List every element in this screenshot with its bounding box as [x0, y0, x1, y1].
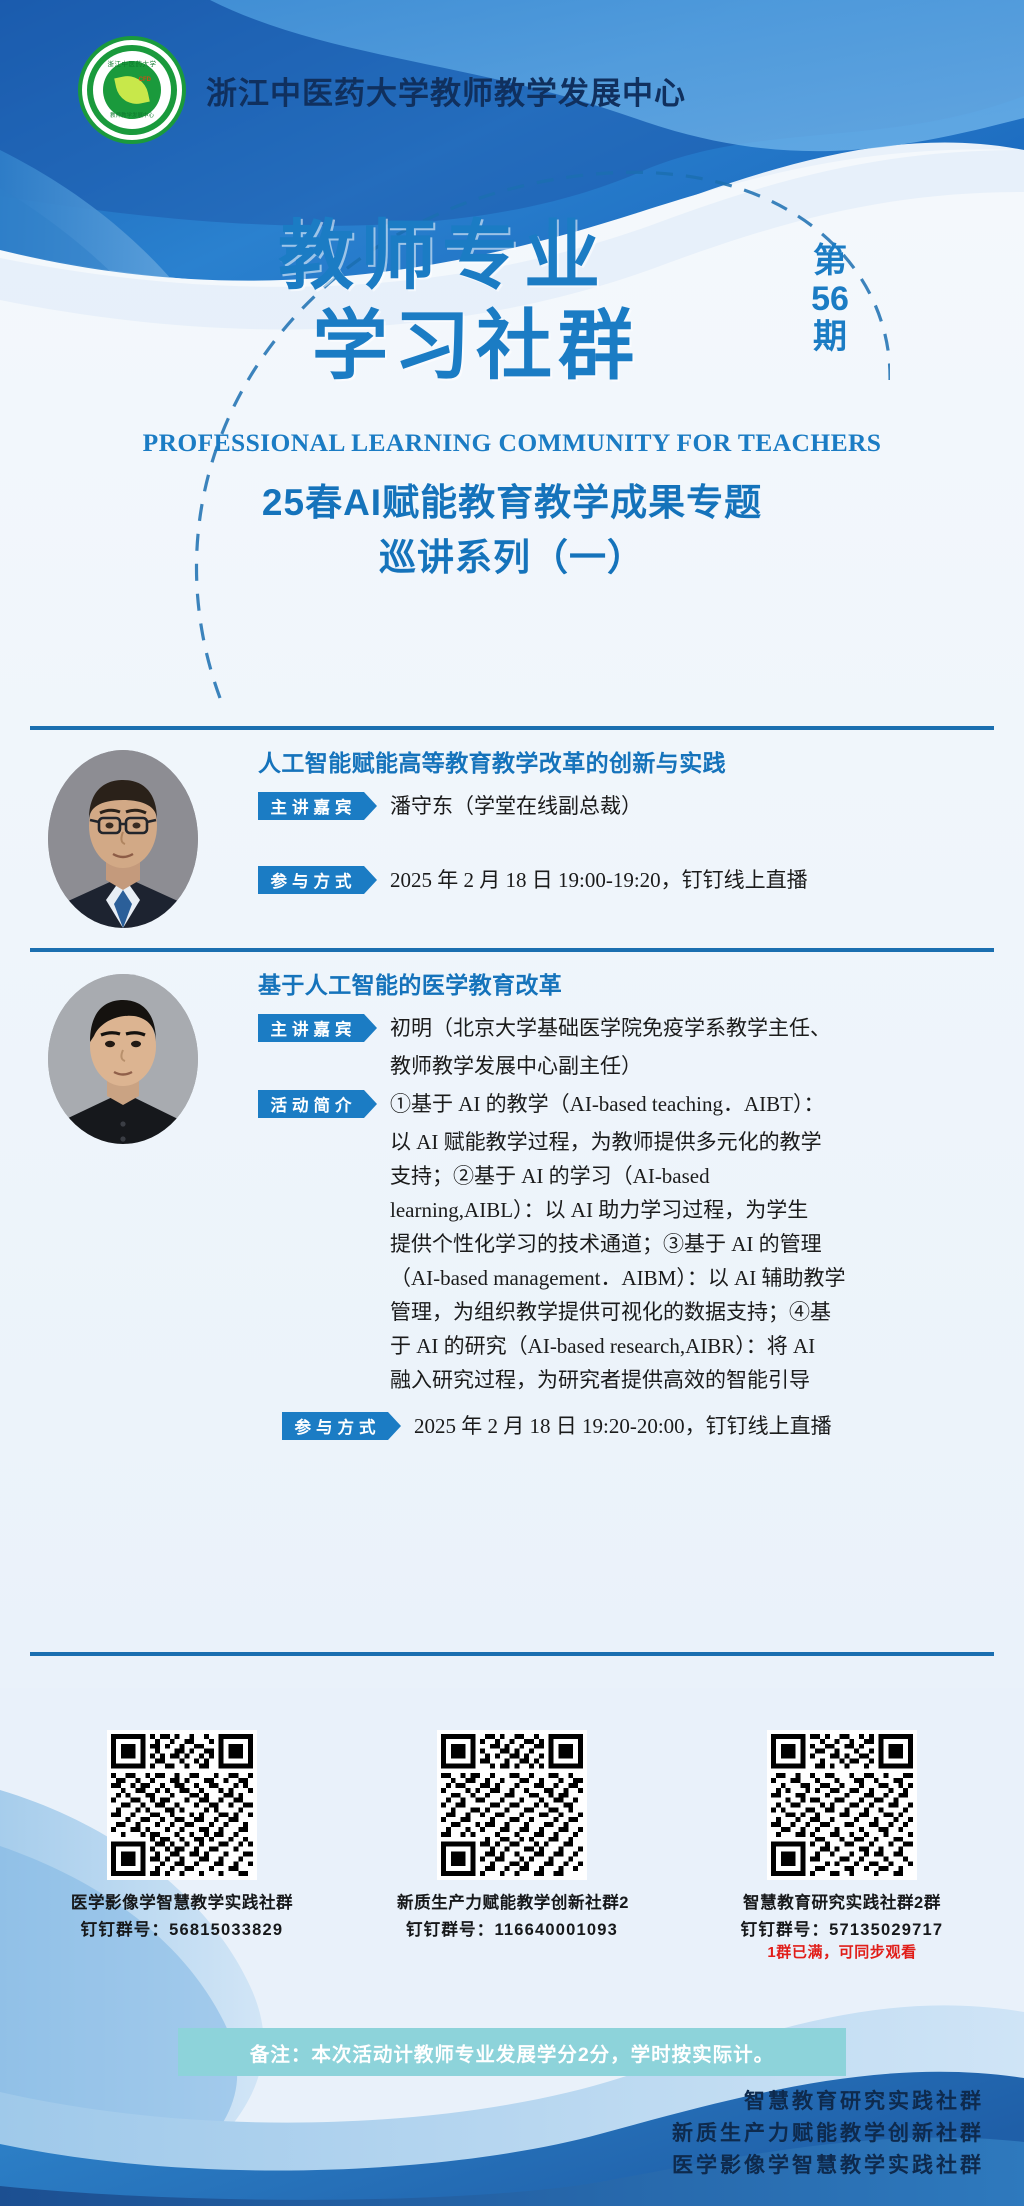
footer-group-2: 医学影像学智慧教学实践社群 [424, 2150, 984, 2182]
session-2-intro-line-6: 管理，为组织教学提供可视化的数据支持；④基 [390, 1295, 998, 1329]
qr-label-2: 新质生产力赋能教学创新社群2 [397, 1892, 627, 1916]
qr-number-label-2: 钉钉群号： [406, 1921, 495, 1939]
session-1-join-text: 2025 年 2 月 18 日 19:00-19:20，钉钉线上直播 [390, 863, 808, 897]
qr-number-2: 钉钉群号：116640001093 [397, 1916, 627, 1940]
issue-suffix: 期 [800, 318, 860, 356]
session-1-speaker-row: 主讲嘉宾 潘守东（学堂在线副总裁） [258, 789, 978, 823]
activity-intro-tag: 活动简介 [258, 1090, 364, 1118]
speaker-tag: 主讲嘉宾 [258, 792, 364, 820]
qr-code-image-1[interactable] [107, 1730, 257, 1880]
session-2-join-text: 2025 年 2 月 18 日 19:20-20:00，钉钉线上直播 [414, 1409, 832, 1443]
join-method-tag: 参与方式 [282, 1412, 388, 1440]
session-1-body: 人工智能赋能高等教育教学改革的创新与实践 主讲嘉宾 潘守东（学堂在线副总裁） 参… [258, 744, 978, 901]
logo-bottom-text: 教师教学发展中心 [93, 113, 171, 120]
session-2-body: 基于人工智能的医学教育改革 主讲嘉宾 初明（北京大学基础医学院免疫学系教学主任、… [258, 966, 998, 1447]
session-2-intro-line-8: 融入研究过程，为研究者提供高效的智能引导 [390, 1363, 998, 1397]
hero-title: 教师专业 学习社群 [278, 212, 778, 391]
session-2-join-row: 参与方式 2025 年 2 月 18 日 19:20-20:00，钉钉线上直播 [282, 1409, 998, 1443]
speaker-tag: 主讲嘉宾 [258, 1014, 364, 1042]
footer-group-1: 新质生产力赋能教学创新社群 [424, 2118, 984, 2150]
issue-badge: 第 56 期 [800, 242, 860, 356]
session-2-intro-line-3: learning,AIBL）：以 AI 助力学习过程，为学生 [390, 1193, 998, 1227]
qr-number-label-3: 钉钉群号： [741, 1921, 830, 1939]
qr-number-1: 钉钉群号：56815033829 [67, 1916, 297, 1940]
hero-english-subtitle: PROFESSIONAL LEARNING COMMUNITY FOR TEAC… [0, 428, 1024, 458]
footer-group-list: 智慧教育研究实践社群 新质生产力赋能教学创新社群 医学影像学智慧教学实践社群 [424, 2086, 984, 2182]
poster-root: 浙江中医药大学 CFD 教师教学发展中心 浙江中医药大学教师教学发展中心 教师专… [0, 0, 1024, 2206]
qr-cell-1[interactable]: 医学影像学智慧教学实践社群 钉钉群号：56815033829 [67, 1730, 297, 1962]
session-2-intro-row: 活动简介 ①基于 AI 的教学（AI-based teaching．AIBT）： [258, 1087, 998, 1121]
qr-number-3: 钉钉群号：57135029717 [727, 1916, 957, 1940]
session-2-intro-line-4: 提供个性化学习的技术通道；③基于 AI 的管理 [390, 1227, 998, 1261]
hero-series-line2: 巡讲系列（一） [0, 531, 1024, 586]
session-1-title: 人工智能赋能高等教育教学改革的创新与实践 [258, 744, 978, 778]
footer-group-0: 智慧教育研究实践社群 [424, 2086, 984, 2118]
qr-label-1: 医学影像学智慧教学实践社群 [67, 1892, 297, 1916]
qr-number-value-3: 57135029717 [829, 1921, 943, 1939]
qr-code-image-2[interactable] [437, 1730, 587, 1880]
organization-title: 浙江中医药大学教师教学发展中心 [206, 68, 686, 113]
note-bar: 备注：本次活动计教师专业发展学分2分，学时按实际计。 [178, 2028, 846, 2076]
qr-label-3: 智慧教育研究实践社群2群 [727, 1892, 957, 1916]
hero-series-subtitle: 25春AI赋能教育教学成果专题 巡讲系列（一） [0, 476, 1024, 586]
hero-section: 教师专业 学习社群 第 56 期 PROFESSIONAL LEARNING C… [0, 180, 1024, 720]
hero-title-line1: 教师专业 [278, 214, 606, 299]
page-header: 浙江中医药大学 CFD 教师教学发展中心 浙江中医药大学教师教学发展中心 [0, 0, 1024, 180]
qr-warning-3: 1群已满，可同步观看 [727, 1941, 957, 1962]
divider-top [30, 726, 994, 730]
session-2-speaker-row: 主讲嘉宾 初明（北京大学基础医学院免疫学系教学主任、 [258, 1011, 998, 1045]
qr-cell-2[interactable]: 新质生产力赋能教学创新社群2 钉钉群号：116640001093 [397, 1730, 627, 1962]
qr-number-value-1: 56815033829 [169, 1921, 283, 1939]
logo-top-text: 浙江中医药大学 [93, 58, 171, 68]
session-2: 基于人工智能的医学教育改革 主讲嘉宾 初明（北京大学基础医学院免疫学系教学主任、… [0, 962, 1024, 1652]
speaker-2-photo [48, 974, 198, 1144]
session-1-join-row: 参与方式 2025 年 2 月 18 日 19:00-19:20，钉钉线上直播 [258, 863, 978, 897]
session-2-intro-line-0: ①基于 AI 的教学（AI-based teaching．AIBT）： [390, 1087, 825, 1121]
logo-mark-text: CFD [139, 77, 151, 83]
hero-title-line2: 学习社群 [278, 302, 778, 392]
qr-number-value-2: 116640001093 [494, 1921, 618, 1939]
university-logo: 浙江中医药大学 CFD 教师教学发展中心 [78, 36, 186, 144]
qr-number-label-1: 钉钉群号： [81, 1921, 170, 1939]
speaker-1-photo [48, 750, 198, 928]
issue-prefix: 第 [800, 242, 860, 280]
qr-cell-3[interactable]: 智慧教育研究实践社群2群 钉钉群号：57135029717 1群已满，可同步观看 [727, 1730, 957, 1962]
hero-series-line1: 25春AI赋能教育教学成果专题 [0, 476, 1024, 531]
session-1-speaker-text: 潘守东（学堂在线副总裁） [390, 789, 642, 823]
session-2-intro-line-7: 于 AI 的研究（AI-based research,AIBR）：将 AI [390, 1329, 998, 1363]
session-2-speaker-line2: 教师教学发展中心副主任） [390, 1049, 998, 1083]
logo-bottom-cn: 教师教学发展中心 [93, 113, 171, 120]
divider-middle [30, 948, 994, 952]
session-1: 人工智能赋能高等教育教学改革的创新与实践 主讲嘉宾 潘守东（学堂在线副总裁） 参… [0, 740, 1024, 940]
join-method-tag: 参与方式 [258, 866, 364, 894]
session-2-intro-line-2: 支持；②基于 AI 的学习（AI-based [390, 1159, 998, 1193]
divider-bottom [30, 1652, 994, 1656]
issue-number: 56 [800, 280, 860, 318]
session-2-title: 基于人工智能的医学教育改革 [258, 966, 998, 1000]
session-2-intro-line-5: （AI-based management．AIBM）：以 AI 辅助教学 [390, 1261, 998, 1295]
qr-section: 医学影像学智慧教学实践社群 钉钉群号：56815033829 [0, 1690, 1024, 2020]
session-2-intro-line-1: 以 AI 赋能教学过程，为教师提供多元化的教学 [390, 1125, 998, 1159]
session-2-speaker-line1: 初明（北京大学基础医学院免疫学系教学主任、 [390, 1011, 831, 1045]
qr-code-image-3[interactable] [767, 1730, 917, 1880]
